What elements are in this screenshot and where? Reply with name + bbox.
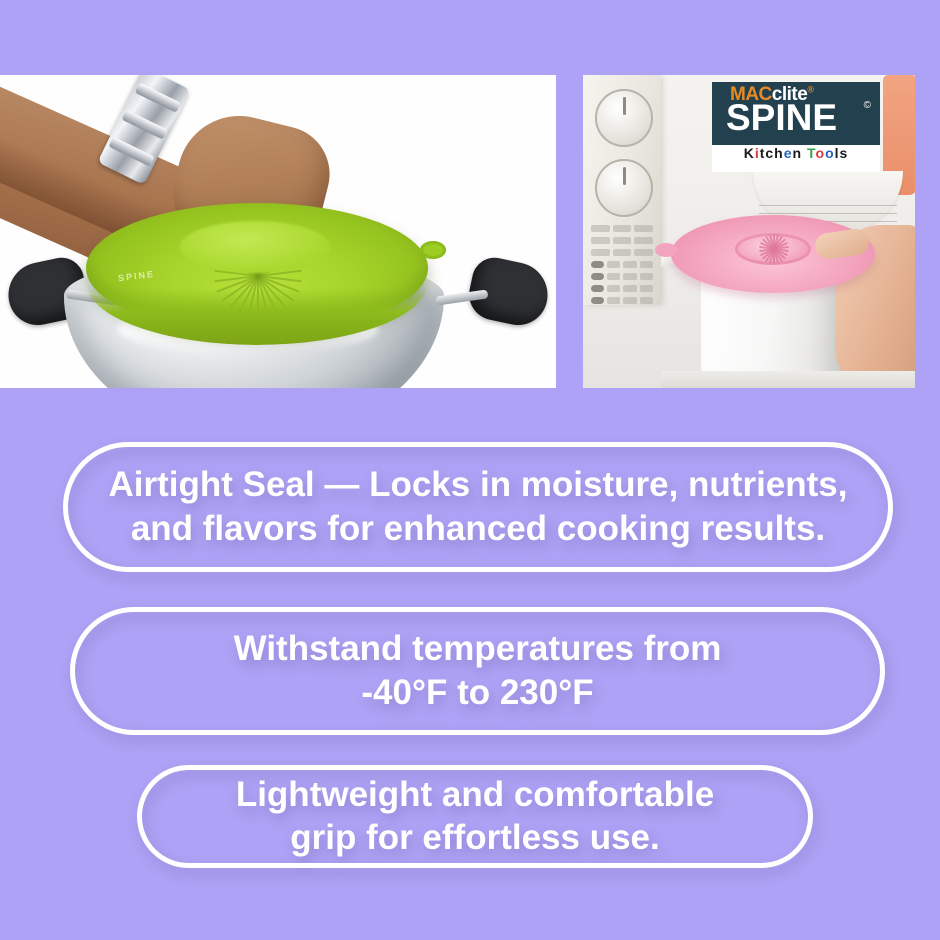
photo-green-lid-on-pot: SPINE xyxy=(0,75,556,388)
microwave-key xyxy=(607,261,620,268)
microwave-key xyxy=(640,261,653,268)
microwave-dial-timer xyxy=(595,159,653,217)
table-surface xyxy=(661,371,915,388)
logo-tagline-char: K xyxy=(744,145,755,161)
logo-tagline-char: h xyxy=(774,145,784,161)
microwave-control-panel xyxy=(583,75,661,305)
microwave-key-pill xyxy=(591,297,604,304)
microwave-key xyxy=(607,297,620,304)
microwave-key xyxy=(640,297,653,304)
dial-pointer xyxy=(623,97,626,115)
logo-tagline-char: c xyxy=(765,145,774,161)
logo-tagline-char: e xyxy=(784,145,793,161)
microwave-key xyxy=(591,249,610,256)
microwave-key-row xyxy=(591,261,653,268)
microwave-key-row xyxy=(591,237,653,244)
product-card-canvas: SPINE xyxy=(0,0,940,940)
microwave-dial-power xyxy=(595,89,653,147)
microwave-keypad xyxy=(591,225,653,309)
microwave-key-row xyxy=(591,249,653,256)
microwave-key-pill xyxy=(591,273,604,280)
microwave-key xyxy=(591,237,610,244)
microwave-key xyxy=(613,225,632,232)
logo-tagline: Kitchen Tools xyxy=(722,145,870,161)
microwave-key-pill xyxy=(591,261,604,268)
microwave-key xyxy=(607,273,620,280)
microwave-key xyxy=(640,273,653,280)
logo-spine-wordmark: SPINE xyxy=(726,98,837,139)
microwave-key xyxy=(634,225,653,232)
microwave-key-pill xyxy=(591,285,604,292)
microwave-key xyxy=(607,285,620,292)
plate-edge xyxy=(759,205,897,206)
logo-tagline-char: o xyxy=(825,145,835,161)
feature-line-2: grip for effortless use. xyxy=(236,817,714,860)
lid-pull-tab xyxy=(420,241,446,259)
feature-line-1: Airtight Seal — Locks in moisture, nutri… xyxy=(109,463,848,507)
microwave-key-row xyxy=(591,273,653,280)
microwave-key-row xyxy=(591,297,653,304)
feature-text-block: Airtight Seal — Locks in moisture, nutri… xyxy=(109,463,848,551)
feature-line-2: -40°F to 230°F xyxy=(234,671,722,715)
watch-link xyxy=(108,137,154,167)
feature-bubble-temperature-range: Withstand temperatures from -40°F to 230… xyxy=(70,607,885,735)
lid-dome-highlight xyxy=(180,221,330,273)
feature-bubble-airtight-seal: Airtight Seal — Locks in moisture, nutri… xyxy=(63,442,893,572)
microwave-key xyxy=(613,249,632,256)
microwave-key xyxy=(623,261,636,268)
dial-pointer xyxy=(623,167,626,185)
microwave-key xyxy=(623,297,636,304)
pink-lid-hub xyxy=(735,233,811,265)
pink-lid-pull-tab xyxy=(655,243,677,257)
left-photo-stage: SPINE xyxy=(0,75,556,388)
feature-line-1: Withstand temperatures from xyxy=(234,627,722,671)
microwave-key-row xyxy=(591,225,653,232)
microwave-key xyxy=(623,285,636,292)
registered-mark-icon: ® xyxy=(807,85,813,95)
microwave-key xyxy=(591,225,610,232)
feature-text-block: Lightweight and comfortable grip for eff… xyxy=(236,774,714,859)
microwave-key xyxy=(623,273,636,280)
microwave-key-row xyxy=(591,285,653,292)
microwave-key xyxy=(634,249,653,256)
logo-tagline-char: n xyxy=(793,145,803,161)
brand-logo: MACclite® SPINE © Kitchen Tools xyxy=(712,82,880,172)
microwave-key xyxy=(613,237,632,244)
copyright-mark-icon: © xyxy=(864,100,871,111)
plate-edge xyxy=(759,213,897,214)
feature-line-1: Lightweight and comfortable xyxy=(236,774,714,817)
logo-tagline-char: o xyxy=(816,145,826,161)
microwave-key xyxy=(634,237,653,244)
feature-line-2: and flavors for enhanced cooking results… xyxy=(109,507,848,551)
feature-bubble-lightweight-grip: Lightweight and comfortable grip for eff… xyxy=(137,765,813,868)
feature-text-block: Withstand temperatures from -40°F to 230… xyxy=(234,627,722,715)
logo-tagline-char: s xyxy=(840,145,849,161)
logo-tagline-char: T xyxy=(807,145,816,161)
microwave-key xyxy=(640,285,653,292)
